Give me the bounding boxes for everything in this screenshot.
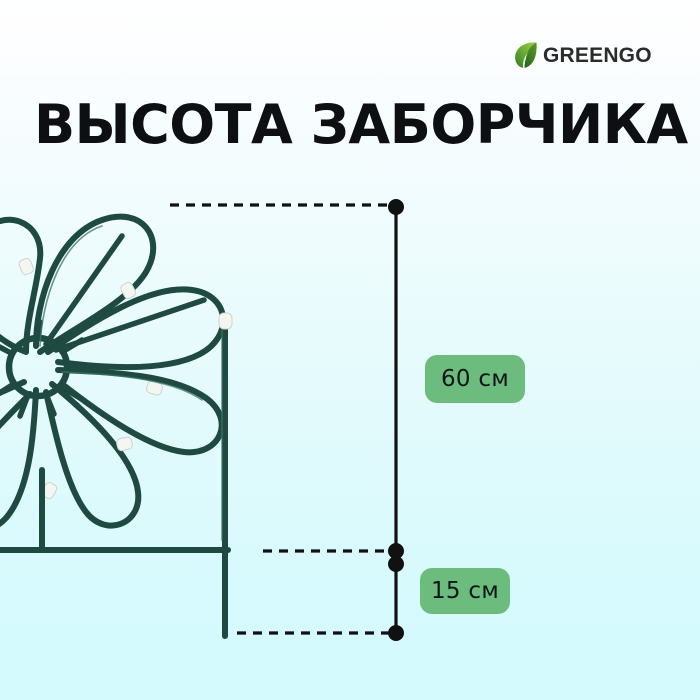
flower-fence-graphic [0, 217, 232, 636]
measurement-badge-height-15: 15 см [420, 568, 510, 614]
measurement-badge-height-60: 60 см [425, 355, 525, 403]
dimension-dot-bottom [388, 625, 404, 641]
dimension-dot-ground-lower [388, 556, 404, 572]
poster-canvas: GREENGO ВЫСОТА ЗАБОРЧИКА .wire { fill:no… [0, 0, 700, 700]
measurement-label: 60 см [441, 366, 509, 392]
dimension-annotations [170, 199, 404, 641]
measurement-label: 15 см [431, 578, 499, 604]
dimension-dot-top [388, 199, 404, 215]
product-illustration: .wire { fill:none; stroke:#1e4a42; strok… [0, 0, 700, 700]
